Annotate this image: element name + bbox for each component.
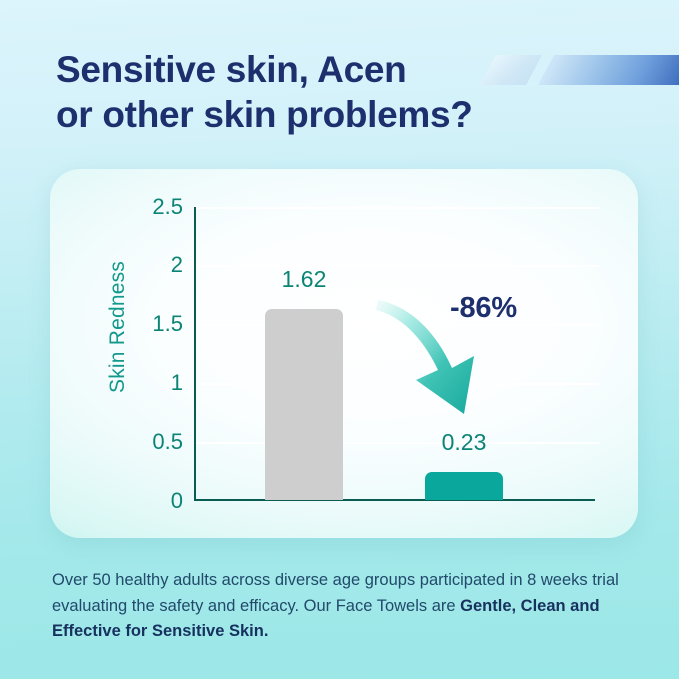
y-tick-0: 0: [135, 488, 183, 514]
study-caption: Over 50 healthy adults across diverse ag…: [52, 568, 636, 645]
y-axis-label: Skin Redness: [106, 247, 130, 407]
reduction-percent-label: -86%: [450, 292, 517, 325]
page-title-line-2: or other skin problems?: [56, 92, 576, 137]
y-tick-3: 1.5: [135, 311, 183, 337]
y-tick-4: 2: [135, 252, 183, 278]
bar-chart: Skin Redness 0 0.5 1 1.5 2 2.5 1.62 0.23: [50, 169, 638, 538]
y-tick-5: 2.5: [135, 194, 183, 220]
x-axis-line: [194, 499, 595, 501]
bar-after-use: [425, 472, 503, 500]
page-title: Sensitive skin, Acen or other skin probl…: [56, 47, 576, 137]
y-tick-1: 0.5: [135, 429, 183, 455]
chart-card: Skin Redness 0 0.5 1 1.5 2 2.5 1.62 0.23: [50, 169, 638, 538]
page-title-line-1: Sensitive skin, Acen: [56, 49, 406, 90]
gridline-0.5: [195, 442, 600, 444]
gridline-2.5: [195, 207, 600, 209]
y-axis-line: [194, 207, 196, 501]
y-tick-2: 1: [135, 370, 183, 396]
y-axis-tick-labels: 0 0.5 1 1.5 2 2.5: [135, 169, 183, 538]
bar-value-baseline: 1.62: [244, 266, 364, 293]
bar-value-after-use: 0.23: [404, 429, 524, 456]
bar-baseline: [265, 309, 343, 500]
